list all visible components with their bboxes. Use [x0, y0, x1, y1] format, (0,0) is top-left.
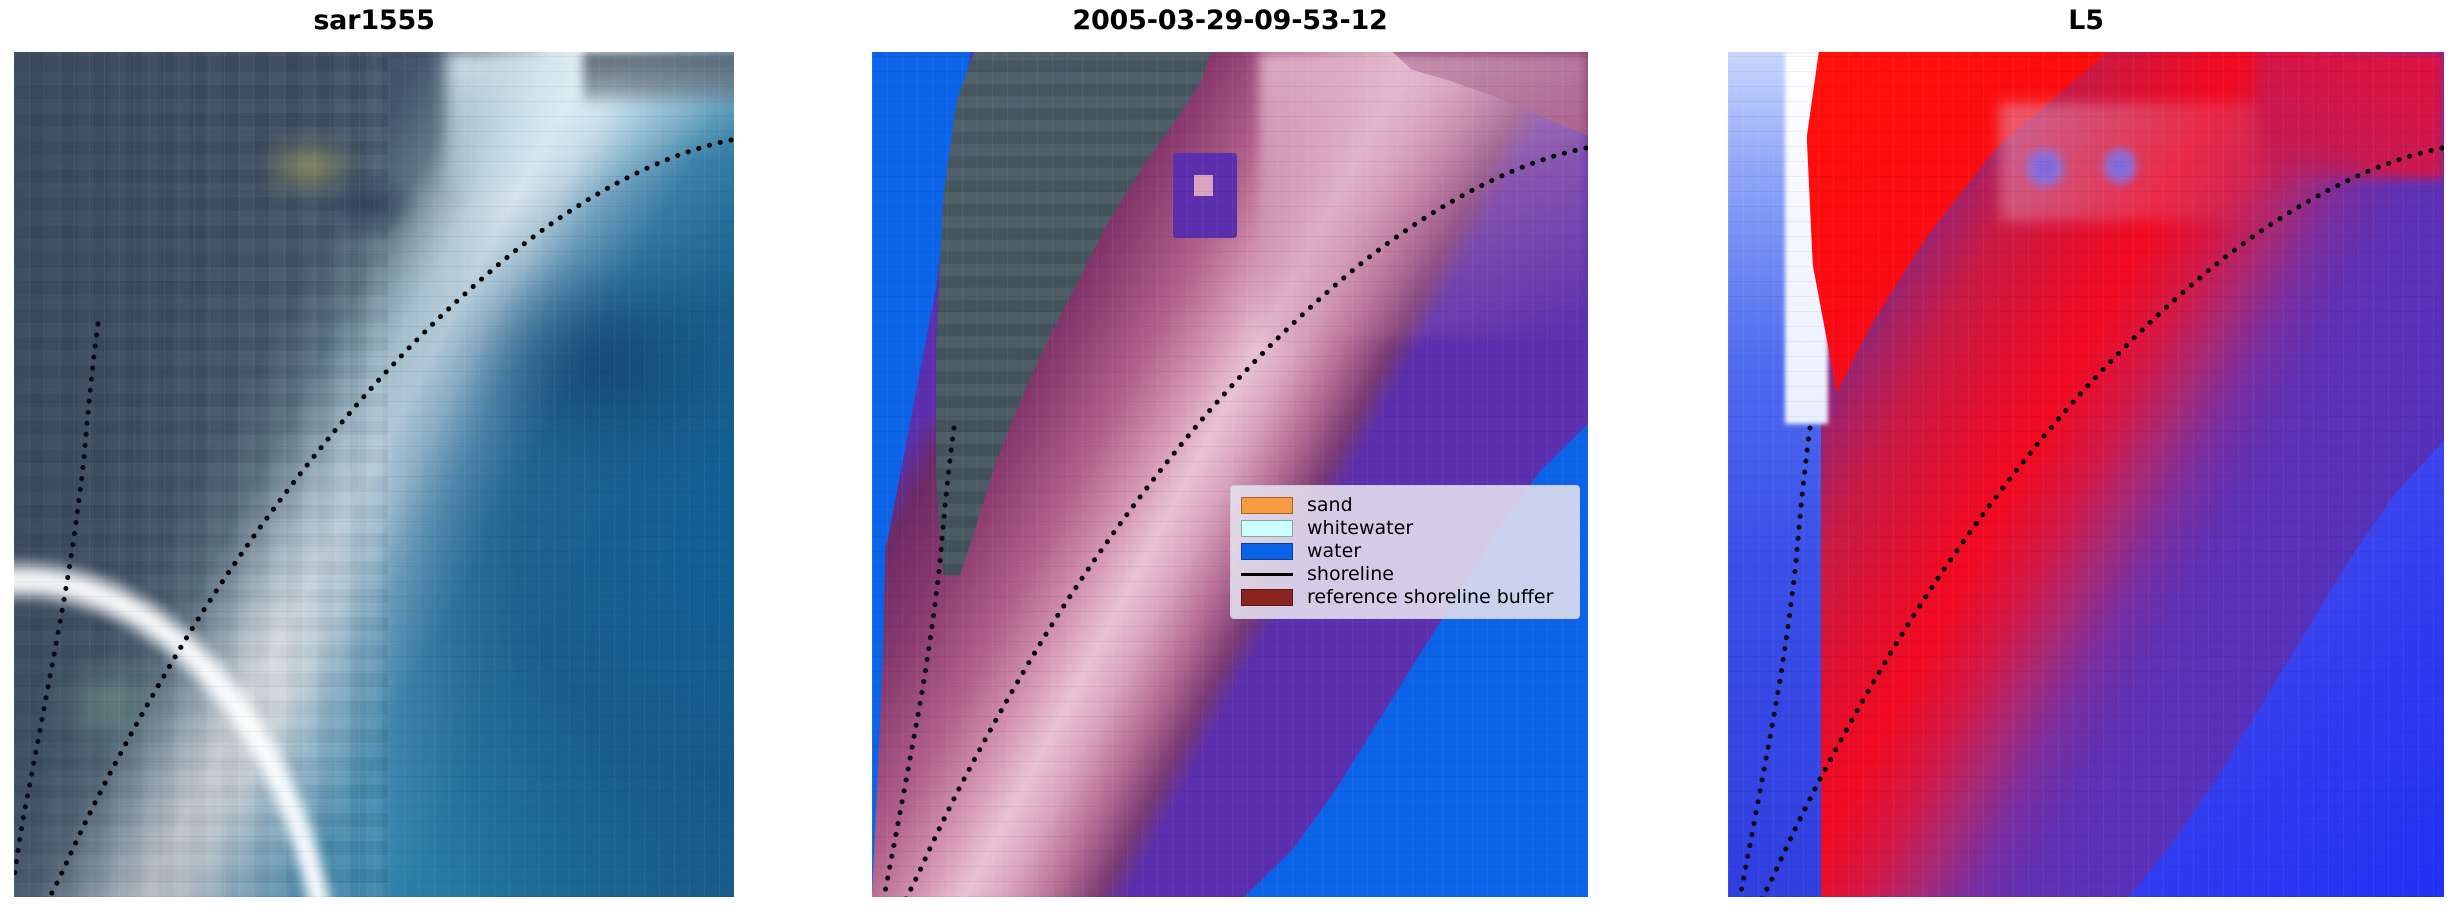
legend: sand whitewater water shoreline referenc…	[1230, 485, 1580, 619]
sand-speck	[1194, 175, 1213, 195]
figure-canvas: sar1555 2005-03-29-09-53-12 L5	[0, 0, 2460, 915]
legend-swatch-whitewater	[1241, 520, 1293, 537]
legend-label-whitewater: whitewater	[1307, 519, 1413, 538]
legend-swatch-water	[1241, 543, 1293, 560]
legend-label-sand: sand	[1307, 496, 1353, 515]
legend-item-whitewater: whitewater	[1241, 517, 1569, 540]
image-panel-index[interactable]	[1728, 52, 2444, 897]
classification-raster	[872, 52, 1588, 897]
panel-title-1: sar1555	[14, 4, 734, 44]
legend-swatch-reference-buffer	[1241, 589, 1293, 606]
legend-label-shoreline: shoreline	[1307, 565, 1394, 584]
shore-highlight-upper	[1259, 52, 1588, 339]
index-blob-left	[2022, 145, 2069, 191]
surf-line	[14, 52, 734, 897]
water-notch	[1173, 153, 1237, 238]
index-blob-right	[2100, 145, 2139, 187]
legend-item-shoreline: shoreline	[1241, 563, 1569, 586]
legend-line-shoreline	[1241, 566, 1293, 583]
index-raster	[1728, 52, 2444, 897]
legend-label-water: water	[1307, 542, 1361, 561]
panel-title-3: L5	[1728, 4, 2444, 44]
image-panel-classification[interactable]: sand whitewater water shoreline referenc…	[872, 52, 1588, 897]
rgb-raster	[14, 52, 734, 897]
legend-item-sand: sand	[1241, 494, 1569, 517]
panel-title-2: 2005-03-29-09-53-12	[872, 4, 1588, 44]
legend-item-water: water	[1241, 540, 1569, 563]
land-texture	[929, 52, 1273, 660]
low-index-bottom-right	[2129, 441, 2444, 897]
legend-swatch-sand	[1241, 497, 1293, 514]
legend-label-reference-buffer: reference shoreline buffer	[1307, 588, 1553, 607]
image-panel-rgb[interactable]	[14, 52, 734, 897]
high-index-top-right	[2258, 52, 2444, 179]
legend-item-reference-buffer: reference shoreline buffer	[1241, 586, 1569, 609]
